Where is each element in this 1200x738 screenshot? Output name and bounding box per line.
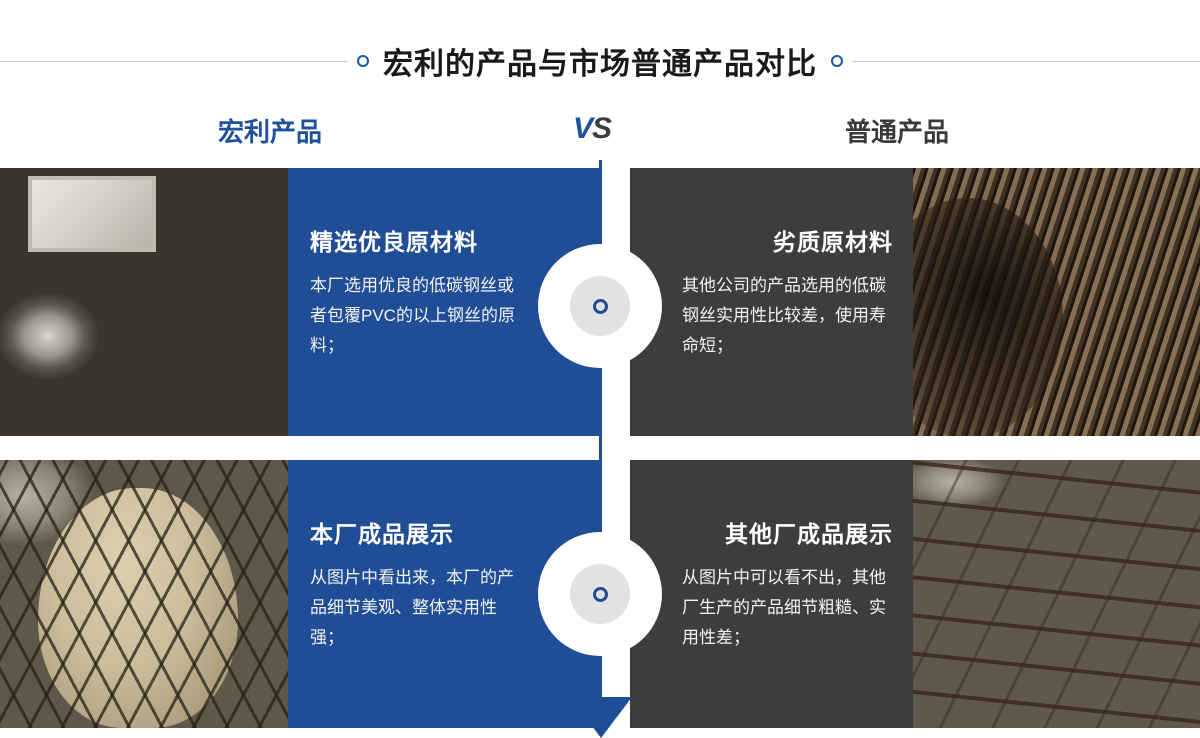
rusty-wire-photo	[913, 168, 1200, 436]
title-rule-left	[0, 61, 347, 62]
column-headers: 宏利产品 VS 普通产品	[0, 112, 1200, 164]
row2-right-body: 从图片中可以看不出，其他厂生产的产品细节粗糙、实用性差；	[682, 563, 893, 653]
circle-marker-icon	[593, 299, 608, 314]
row1-right-body: 其他公司的产品选用的低碳钢丝实用性比较差，使用寿命短；	[682, 271, 893, 361]
circle-marker-icon-right	[831, 55, 843, 67]
vs-letter-v: V	[573, 112, 592, 145]
page-title: 宏利的产品与市场普通产品对比	[379, 39, 821, 83]
row2-right-photo	[913, 460, 1200, 728]
row2-right-title: 其他厂成品展示	[682, 515, 893, 549]
axis-node-row2	[538, 532, 662, 656]
wire-coils-photo	[0, 168, 290, 436]
row1-right-title: 劣质原材料	[682, 223, 893, 257]
axis-node-row1	[538, 244, 662, 368]
gabion-boulder-photo	[0, 460, 290, 728]
vs-letter-s: S	[592, 112, 611, 145]
row2-left-photo	[0, 460, 290, 728]
down-arrow-icon	[570, 697, 632, 738]
column-header-right: 普通产品	[845, 112, 949, 149]
row2-left-body: 从图片中看出来，本厂的产品细节美观、整体实用性强；	[310, 563, 525, 653]
circle-marker-icon-left	[357, 55, 369, 67]
axis-node-core	[570, 276, 630, 336]
row1-left-photo	[0, 168, 290, 436]
vs-badge: VS	[573, 112, 611, 146]
page-title-bar: 宏利的产品与市场普通产品对比	[0, 30, 1200, 92]
title-rule-right	[853, 61, 1200, 62]
row1-right-panel: 劣质原材料 其他公司的产品选用的低碳钢丝实用性比较差，使用寿命短；	[630, 168, 915, 436]
row2-right-panel: 其他厂成品展示 从图片中可以看不出，其他厂生产的产品细节粗糙、实用性差；	[630, 460, 915, 728]
gabion-wall-photo	[913, 460, 1200, 728]
circle-marker-icon	[593, 587, 608, 602]
axis-node-core	[570, 564, 630, 624]
column-header-left: 宏利产品	[218, 112, 322, 149]
row1-left-body: 本厂选用优良的低碳钢丝或者包覆PVC的以上钢丝的原料；	[310, 271, 525, 361]
row2-left-title: 本厂成品展示	[310, 515, 578, 549]
row1-right-photo	[913, 168, 1200, 436]
comparison-infographic: 宏利的产品与市场普通产品对比 宏利产品 VS 普通产品 精选优良原材料 本厂选用…	[0, 0, 1200, 738]
row1-left-title: 精选优良原材料	[310, 223, 578, 257]
